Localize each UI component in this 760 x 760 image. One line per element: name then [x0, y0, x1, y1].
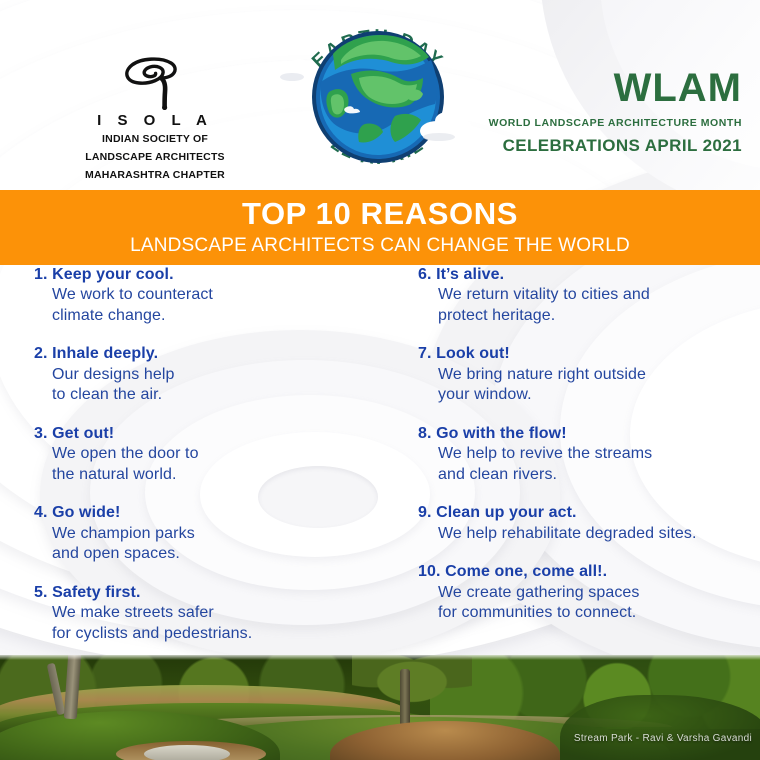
reason-body: We work to counteractclimate change. [34, 285, 394, 326]
spiral-icon [66, 52, 244, 110]
reason-heading: 7. Look out! [418, 344, 754, 364]
poster: I S O L A INDIAN SOCIETY OF LANDSCAPE AR… [0, 0, 760, 760]
reason-item: 1. Keep your cool.We work to counteractc… [34, 265, 394, 326]
cloud-icon [279, 56, 323, 82]
isola-acronym: I S O L A [66, 112, 244, 129]
cloud-icon [419, 108, 477, 142]
reason-heading: 8. Go with the flow! [418, 424, 754, 444]
reason-body: We return vitality to cities andprotect … [418, 285, 754, 326]
footer-photo: Stream Park - Ravi & Varsha Gavandi [0, 655, 760, 760]
reason-body: We open the door tothe natural world. [34, 444, 394, 485]
reason-item: 4. Go wide!We champion parksand open spa… [34, 503, 394, 564]
reason-heading: 5. Safety first. [34, 583, 394, 603]
reason-item: 9. Clean up your act.We help rehabilitat… [418, 503, 754, 544]
reason-heading: 9. Clean up your act. [418, 503, 754, 523]
isola-line-1: INDIAN SOCIETY OF [66, 132, 244, 147]
banner-title: TOP 10 REASONS [242, 198, 518, 231]
reasons-column-left: 1. Keep your cool.We work to counteractc… [34, 265, 394, 662]
reason-body: We bring nature right outsideyour window… [418, 365, 754, 406]
reason-item: 6. It’s alive.We return vitality to citi… [418, 265, 754, 326]
reasons-section: 1. Keep your cool.We work to counteractc… [0, 265, 760, 655]
isola-line-3: MAHARASHTRA CHAPTER [66, 168, 244, 183]
photo-layer [352, 655, 472, 705]
photo-layer [560, 695, 760, 760]
wlam-title: WLAM [482, 68, 742, 108]
reason-heading: 4. Go wide! [34, 503, 394, 523]
reason-heading: 10. Come one, come all!. [418, 562, 754, 582]
isola-logo: I S O L A INDIAN SOCIETY OF LANDSCAPE AR… [66, 52, 244, 183]
header: I S O L A INDIAN SOCIETY OF LANDSCAPE AR… [0, 0, 760, 190]
reason-heading: 2. Inhale deeply. [34, 344, 394, 364]
reason-heading: 6. It’s alive. [418, 265, 754, 285]
reasons-column-right: 6. It’s alive.We return vitality to citi… [418, 265, 754, 642]
reason-body: We make streets saferfor cyclists and pe… [34, 603, 394, 644]
wlam-subtitle: WORLD LANDSCAPE ARCHITECTURE MONTH [482, 117, 742, 129]
wlam-block: WLAM WORLD LANDSCAPE ARCHITECTURE MONTH … [482, 68, 742, 156]
photo-caption: Stream Park - Ravi & Varsha Gavandi [574, 733, 752, 744]
reason-body: We help to revive the streamsand clean r… [418, 444, 754, 485]
reason-item: 8. Go with the flow!We help to revive th… [418, 424, 754, 485]
reason-item: 7. Look out!We bring nature right outsid… [418, 344, 754, 405]
earth-day-emblem: EARTH DAY 22 APRIL [283, 4, 473, 190]
reason-body: We champion parksand open spaces. [34, 524, 394, 565]
orange-banner: TOP 10 REASONS LANDSCAPE ARCHITECTS CAN … [0, 190, 760, 265]
reason-item: 10. Come one, come all!.We create gather… [418, 562, 754, 623]
wlam-celebration: CELEBRATIONS APRIL 2021 [482, 136, 742, 156]
photo-top-fade [0, 655, 760, 660]
reason-heading: 3. Get out! [34, 424, 394, 444]
reason-item: 3. Get out!We open the door tothe natura… [34, 424, 394, 485]
reason-body: We help rehabilitate degraded sites. [418, 524, 754, 544]
reason-item: 5. Safety first.We make streets saferfor… [34, 583, 394, 644]
isola-line-2: LANDSCAPE ARCHITECTS [66, 150, 244, 165]
reason-body: We create gathering spacesfor communitie… [418, 583, 754, 624]
reason-body: Our designs helpto clean the air. [34, 365, 394, 406]
photo-layer [144, 745, 230, 760]
banner-subtitle: LANDSCAPE ARCHITECTS CAN CHANGE THE WORL… [130, 235, 630, 257]
reason-item: 2. Inhale deeply.Our designs helpto clea… [34, 344, 394, 405]
earth-globe-icon [311, 30, 445, 164]
reason-heading: 1. Keep your cool. [34, 265, 394, 285]
